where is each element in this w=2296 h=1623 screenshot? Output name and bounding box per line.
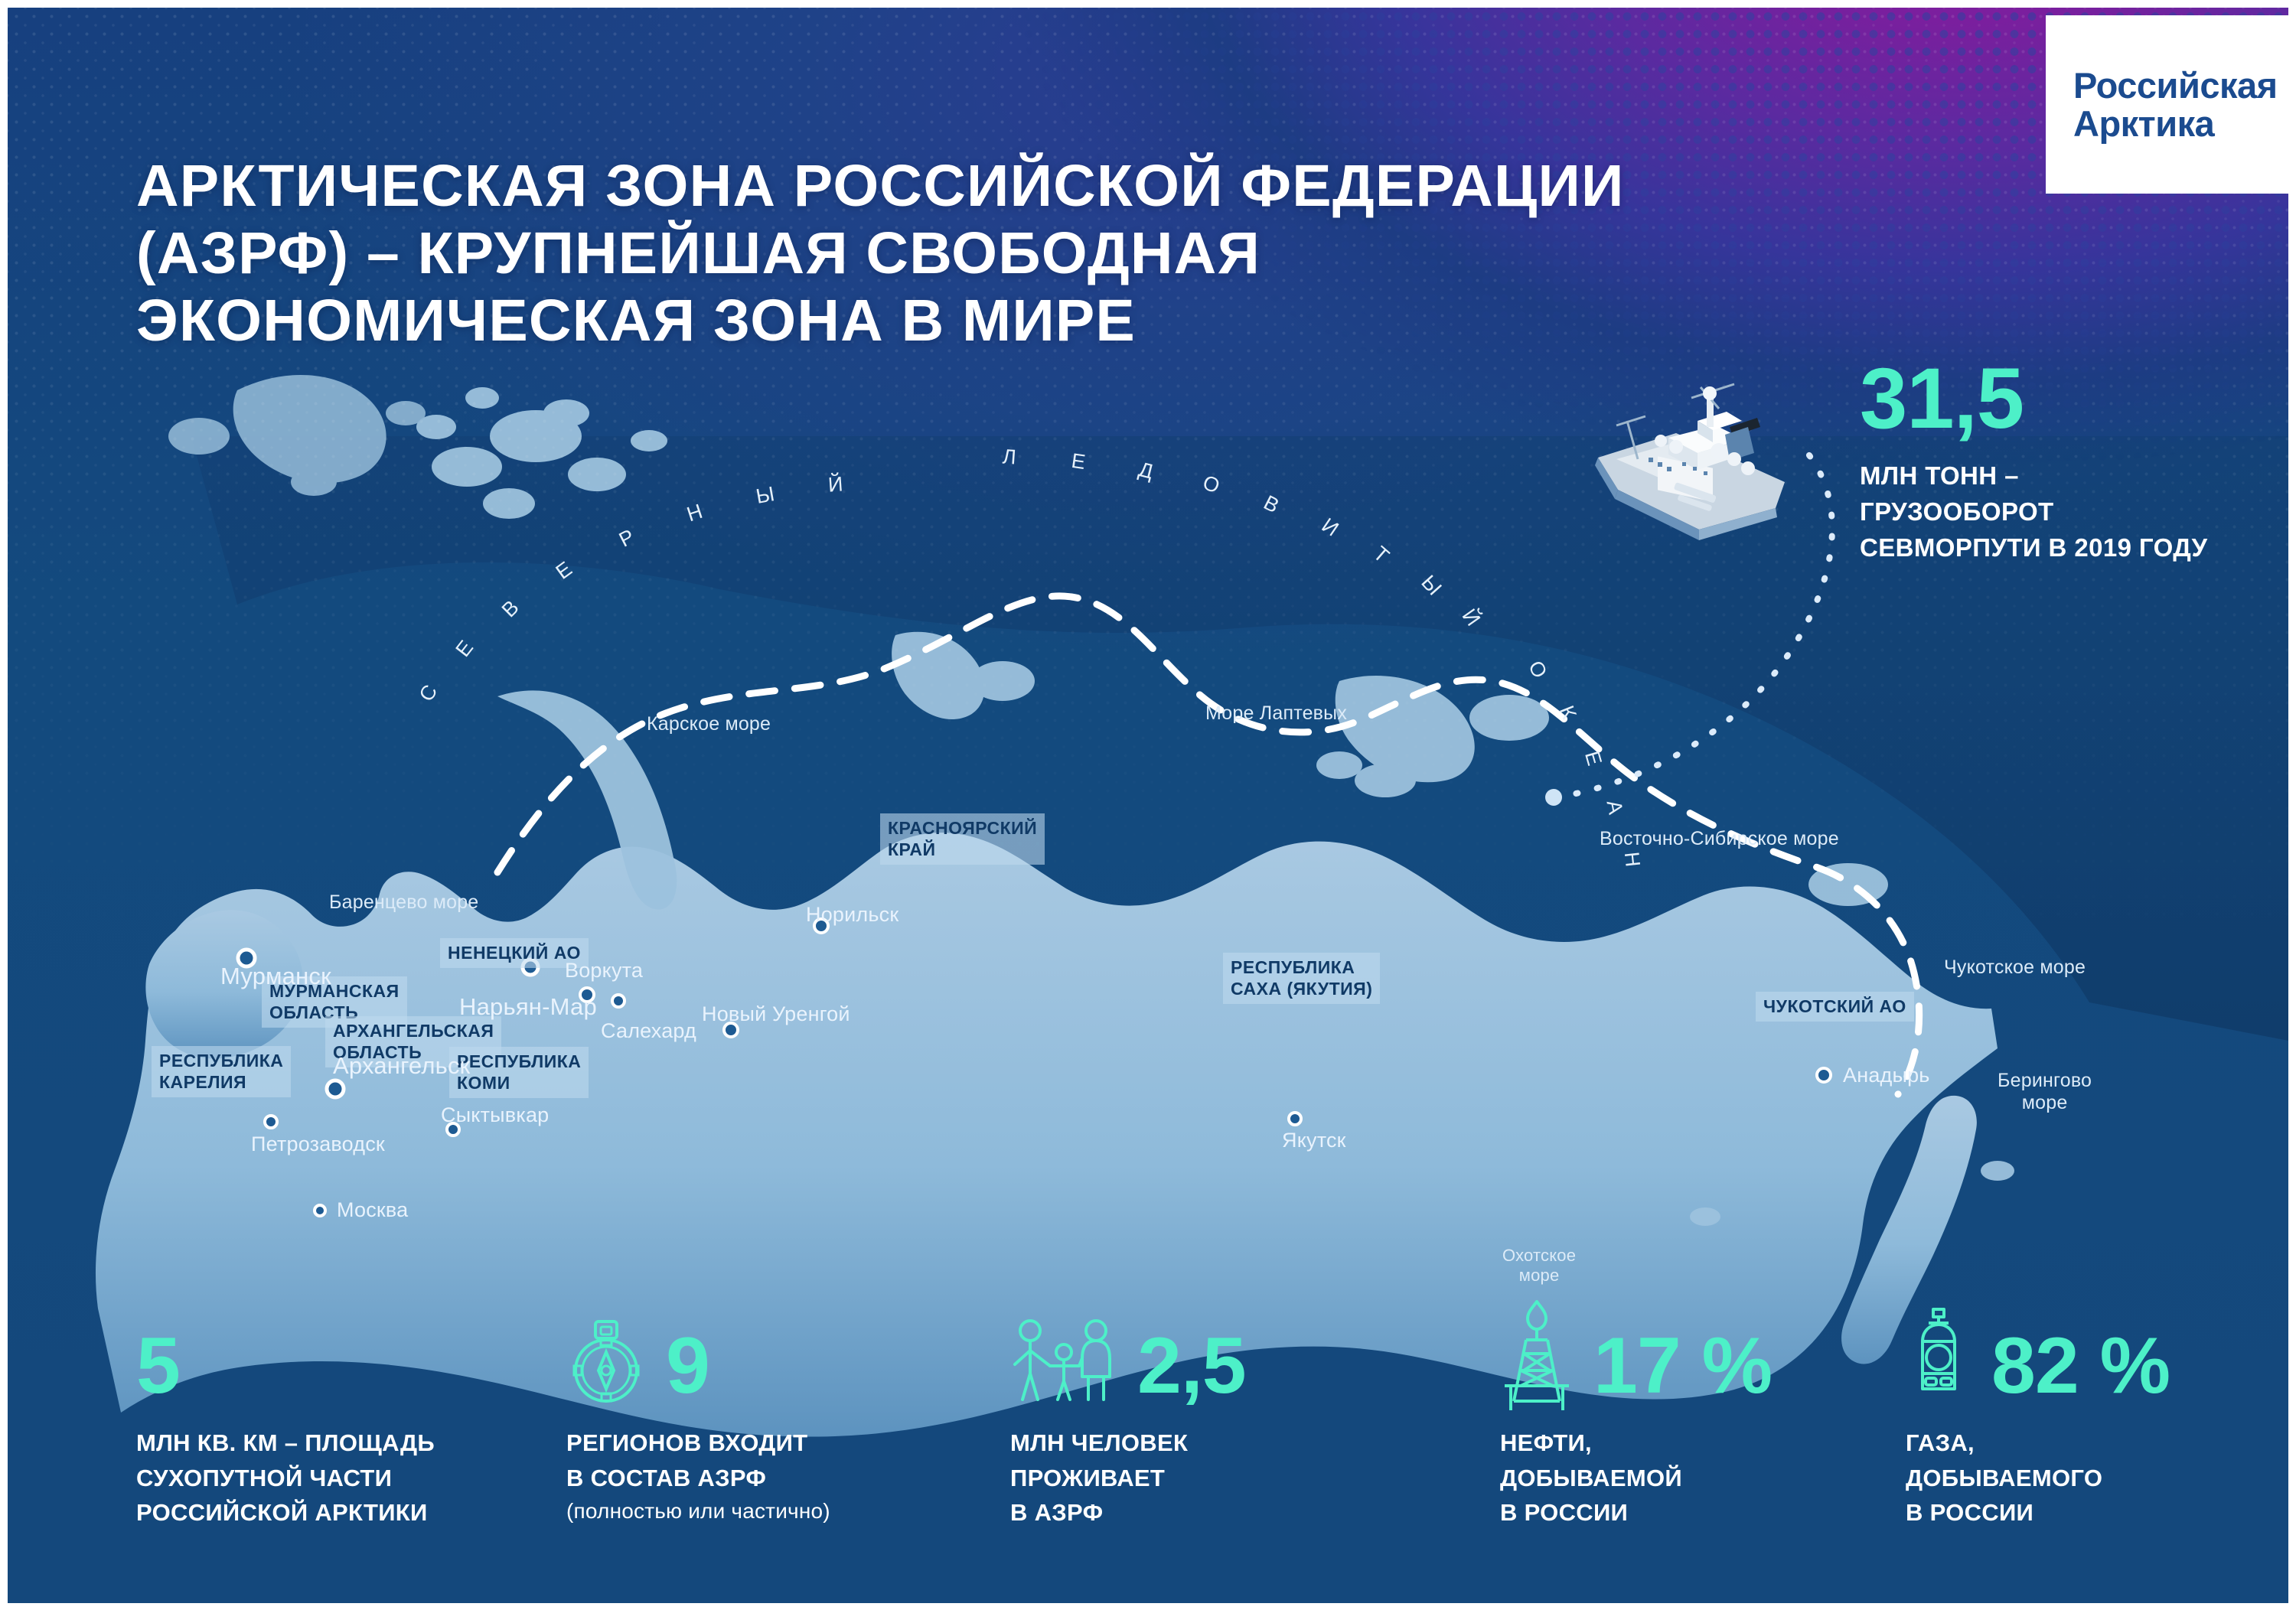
- sea-label: Чукотское море: [1944, 957, 2086, 979]
- sea-label: Баренцево море: [329, 891, 478, 914]
- ocean-letter: Ы: [1417, 571, 1447, 601]
- gas-tank-icon: [1906, 1306, 1971, 1409]
- ocean-letter: В: [1260, 490, 1283, 518]
- city-label: Воркута: [565, 959, 643, 983]
- city-label: Нарьян-Мар: [459, 993, 597, 1021]
- stat-value: 82 %: [1991, 1329, 2170, 1404]
- city-label: Москва: [337, 1198, 408, 1222]
- ocean-letter: Й: [1457, 605, 1486, 631]
- stat-oil: 17 % НЕФТИ, ДОБЫВАЕМОЙ В РОССИИ: [1500, 1309, 1829, 1530]
- ocean-letter: О: [1199, 471, 1223, 499]
- ocean-letter: О: [1523, 657, 1552, 683]
- headline-line-3: ЭКОНОМИЧЕСКАЯ ЗОНА В МИРЕ: [136, 288, 1973, 355]
- ocean-letter: А: [1601, 798, 1627, 817]
- city-label: Сыктывкар: [441, 1103, 549, 1127]
- city-label: Петрозаводск: [251, 1133, 385, 1156]
- ocean-letter: Е: [1580, 748, 1606, 769]
- sea-label: Берингово море: [1998, 1070, 2092, 1114]
- stat-value: 31,5: [1860, 356, 2273, 442]
- logo-line-2: Арктика: [2073, 105, 2288, 142]
- stat-caption: НЕФТИ, ДОБЫВАЕМОЙ В РОССИИ: [1500, 1426, 1829, 1530]
- stat-gas: 82 % ГАЗА, ДОБЫВАЕМОГО В РОССИИ: [1906, 1309, 2242, 1530]
- statistics-row: 5 МЛН КВ. КМ – ПЛОЩАДЬ СУХОПУТНОЙ ЧАСТИ …: [8, 1309, 2288, 1603]
- region-chip: ЧУКОТСКИЙ АО: [1756, 992, 1914, 1022]
- sea-label: Восточно-Сибирское море: [1600, 828, 1839, 850]
- brand-logo[interactable]: Российская Арктика: [2046, 15, 2288, 194]
- ocean-letter: К: [1554, 702, 1581, 723]
- city-label: Норильск: [806, 903, 899, 927]
- stat-caption: МЛН КВ. КМ – ПЛОЩАДЬ СУХОПУТНОЙ ЧАСТИ РО…: [136, 1426, 519, 1530]
- ocean-letter: Е: [451, 635, 478, 661]
- poster-canvas: С Е В Е Р Н Ы Й Л Е Д О В И Т Ы Й О К Е …: [8, 8, 2288, 1603]
- stat-value: 5: [136, 1329, 180, 1404]
- stat-caption: ГАЗА, ДОБЫВАЕМОГО В РОССИИ: [1906, 1426, 2242, 1530]
- stat-regions: 9 РЕГИОНОВ ВХОДИТ В СОСТАВ АЗРФ (полност…: [566, 1309, 934, 1527]
- logo-line-1: Российская: [2073, 67, 2288, 104]
- ocean-letter: Н: [684, 500, 706, 527]
- stat-value: 2,5: [1137, 1329, 1246, 1404]
- ocean-letter: Е: [552, 556, 578, 584]
- ocean-letter: И: [1317, 513, 1343, 542]
- family-icon: [1010, 1318, 1117, 1404]
- ocean-letter: Ы: [754, 482, 777, 509]
- city-label: Новый Уренгой: [702, 1002, 850, 1026]
- ocean-letter: Т: [1368, 542, 1394, 569]
- city-label: Архангельск: [333, 1052, 470, 1080]
- sea-label: Охотское море: [1502, 1246, 1576, 1286]
- region-chip: РЕСПУБЛИКА САХА (ЯКУТИЯ): [1223, 953, 1380, 1004]
- stat-caption: МЛН ТОНН – ГРУЗООБОРОТ СЕВМОРПУТИ В 2019…: [1860, 458, 2273, 566]
- city-label: Анадырь: [1843, 1064, 1930, 1087]
- infographic-poster: С Е В Е Р Н Ы Й Л Е Д О В И Т Ы Й О К Е …: [0, 0, 2296, 1623]
- ocean-letter: С: [415, 680, 443, 706]
- region-chip: КРАСНОЯРСКИЙ КРАЙ: [880, 813, 1045, 865]
- city-label: Мурманск: [220, 963, 331, 990]
- ocean-letter: Й: [827, 472, 845, 497]
- ocean-letter: Р: [615, 524, 639, 552]
- stat-value: 9: [666, 1329, 709, 1404]
- ocean-letter: Д: [1137, 458, 1156, 484]
- stat-caption: МЛН ЧЕЛОВЕК ПРОЖИВАЕТ В АЗРФ: [1010, 1426, 1332, 1530]
- headline-line-2: (АЗРФ) – КРУПНЕЙШАЯ СВОБОДНАЯ: [136, 220, 1973, 288]
- oil-derrick-icon: [1500, 1299, 1574, 1413]
- ocean-letter: Л: [1002, 445, 1018, 469]
- ocean-letter: Е: [1070, 449, 1088, 474]
- sea-label: Карское море: [647, 713, 771, 735]
- ocean-letter: В: [497, 595, 524, 622]
- stat-caption: РЕГИОНОВ ВХОДИТ В СОСТАВ АЗРФ: [566, 1426, 934, 1495]
- stat-subcaption: (полностью или частично): [566, 1495, 934, 1527]
- stat-value: 17 %: [1593, 1329, 1772, 1404]
- sea-label: Море Лаптевых: [1205, 702, 1347, 725]
- region-chip: РЕСПУБЛИКА КАРЕЛИЯ: [152, 1046, 291, 1097]
- city-label: Салехард: [601, 1019, 696, 1043]
- city-label: Якутск: [1282, 1129, 1346, 1152]
- stat-area: 5 МЛН КВ. КМ – ПЛОЩАДЬ СУХОПУТНОЙ ЧАСТИ …: [136, 1309, 519, 1530]
- headline-line-1: АРКТИЧЕСКАЯ ЗОНА РОССИЙСКОЙ ФЕДЕРАЦИИ: [136, 153, 1973, 220]
- page-title: АРКТИЧЕСКАЯ ЗОНА РОССИЙСКОЙ ФЕДЕРАЦИИ (А…: [136, 153, 1973, 354]
- stat-cargo-turnover: 31,5 МЛН ТОНН – ГРУЗООБОРОТ СЕВМОРПУТИ В…: [1860, 356, 2273, 566]
- icebreaker-ship-icon: [1584, 367, 1829, 551]
- compass-icon: [566, 1318, 646, 1404]
- ocean-letter: Н: [1619, 851, 1645, 869]
- stat-population: 2,5 МЛН ЧЕЛОВЕК ПРОЖИВАЕТ В АЗРФ: [1010, 1309, 1332, 1530]
